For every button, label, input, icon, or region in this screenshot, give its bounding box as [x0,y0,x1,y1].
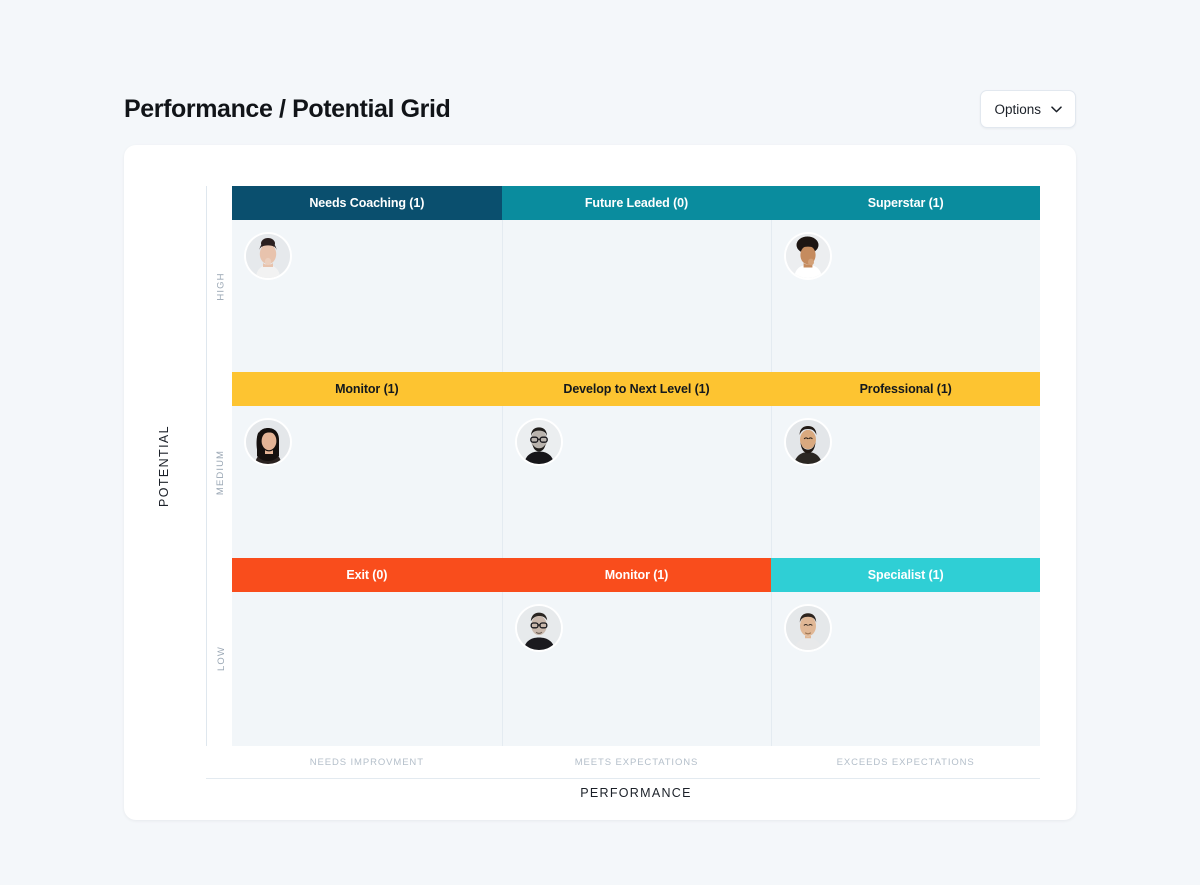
person-avatar-7[interactable] [786,606,830,650]
quadrant-header-professional[interactable]: Professional (1) [771,372,1040,406]
quadrant-header-exit[interactable]: Exit (0) [232,558,502,592]
matrix-row-medium-cells [232,406,1040,558]
quadrant-header-specialist[interactable]: Specialist (1) [771,558,1040,592]
matrix-row-medium: Monitor (1) Develop to Next Level (1) Pr… [232,372,1040,558]
person-avatar-4[interactable] [517,420,561,464]
x-axis-title: PERFORMANCE [232,786,1040,800]
quadrant-cell-monitor-low[interactable] [502,592,772,746]
y-axis-title-label: POTENTIAL [157,425,171,507]
quadrant-cell-needs-coaching[interactable] [232,220,502,372]
options-button[interactable]: Options [980,90,1076,128]
quadrant-cell-monitor-medium[interactable] [232,406,502,558]
grid-card: POTENTIAL HIGH MEDIUM LOW Needs Coaching… [124,145,1076,820]
x-tick-meets-expectations: MEETS EXPECTATIONS [502,746,772,778]
matrix-row-high-headers: Needs Coaching (1) Future Leaded (0) Sup… [232,186,1040,220]
matrix-row-high-cells [232,220,1040,372]
quadrant-header-monitor-medium[interactable]: Monitor (1) [232,372,502,406]
quadrant-header-future-leaded[interactable]: Future Leaded (0) [502,186,772,220]
matrix: Needs Coaching (1) Future Leaded (0) Sup… [232,186,1040,746]
person-avatar-1[interactable] [246,234,290,278]
chevron-down-icon [1051,100,1062,118]
quadrant-cell-professional[interactable] [771,406,1040,558]
person-avatar-2[interactable] [786,234,830,278]
quadrant-header-monitor-low[interactable]: Monitor (1) [502,558,772,592]
app-root: Performance / Potential Grid Options POT… [0,0,1200,885]
person-avatar-3[interactable] [246,420,290,464]
matrix-row-low-headers: Exit (0) Monitor (1) Specialist (1) [232,558,1040,592]
matrix-row-low: Exit (0) Monitor (1) Specialist (1) [232,558,1040,746]
page-header: Performance / Potential Grid Options [124,84,1076,134]
quadrant-header-needs-coaching[interactable]: Needs Coaching (1) [232,186,502,220]
quadrant-cell-specialist[interactable] [771,592,1040,746]
y-tick-low-label: LOW [216,646,227,671]
x-axis-ticks: NEEDS IMPROVMENT MEETS EXPECTATIONS EXCE… [232,746,1040,778]
person-avatar-6[interactable] [517,606,561,650]
x-axis-line [206,778,1040,779]
y-tick-medium-label: MEDIUM [216,449,227,494]
person-avatar-5[interactable] [786,420,830,464]
x-tick-exceeds-expectations: EXCEEDS EXPECTATIONS [771,746,1040,778]
y-axis-title: POTENTIAL [152,186,176,746]
y-tick-high: HIGH [210,200,232,372]
options-button-label: Options [994,102,1041,117]
quadrant-header-superstar[interactable]: Superstar (1) [771,186,1040,220]
y-tick-low: LOW [210,572,232,744]
quadrant-header-develop-to-next-level[interactable]: Develop to Next Level (1) [502,372,772,406]
matrix-row-medium-headers: Monitor (1) Develop to Next Level (1) Pr… [232,372,1040,406]
matrix-row-high: Needs Coaching (1) Future Leaded (0) Sup… [232,186,1040,372]
x-tick-needs-improvement: NEEDS IMPROVMENT [232,746,502,778]
quadrant-cell-superstar[interactable] [771,220,1040,372]
y-axis-ticks: HIGH MEDIUM LOW [210,186,232,746]
quadrant-cell-develop-to-next-level[interactable] [502,406,772,558]
page-title: Performance / Potential Grid [124,95,450,124]
y-tick-medium: MEDIUM [210,386,232,558]
quadrant-cell-future-leaded[interactable] [502,220,772,372]
y-axis-line [206,186,207,746]
y-tick-high-label: HIGH [216,272,227,300]
matrix-row-low-cells [232,592,1040,746]
quadrant-cell-exit[interactable] [232,592,502,746]
matrix-container: POTENTIAL HIGH MEDIUM LOW Needs Coaching… [166,186,1040,786]
